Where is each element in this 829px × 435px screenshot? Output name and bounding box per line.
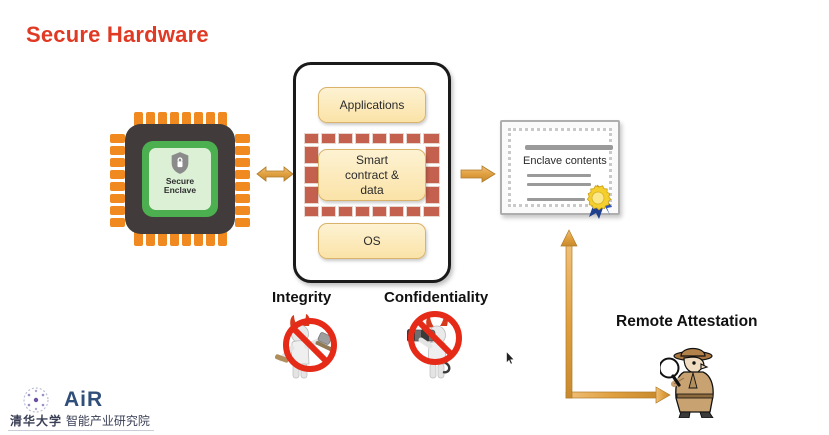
slide-canvas: Secure Hardware <box>0 0 829 435</box>
stack-box-smart-contract[interactable]: Smart contract & data <box>318 149 426 201</box>
enclave-certificate: Enclave contents <box>500 120 620 215</box>
certificate-line <box>527 198 585 201</box>
chip-pin-right <box>235 170 250 179</box>
logo-institute-name: 智能产业研究院 <box>66 414 150 428</box>
certificate-title: Enclave contents <box>523 155 623 167</box>
logo-mark-icon <box>14 387 62 413</box>
chip-pin-left <box>110 218 125 227</box>
cpu-chip: Secure Enclave <box>100 112 260 247</box>
brick <box>304 166 319 184</box>
gold-seal-icon <box>581 183 615 219</box>
brick <box>425 166 440 184</box>
chip-pin-right <box>235 218 250 227</box>
chip-pin-right <box>235 194 250 203</box>
chip-pin-left <box>110 134 125 143</box>
chip-pin-right <box>235 146 250 155</box>
brick <box>372 133 387 144</box>
brick <box>304 146 319 164</box>
air-logo: AiR 清华大学 智能产业研究院 <box>6 386 156 432</box>
certificate-line <box>527 174 591 177</box>
chip-pin-left <box>110 194 125 203</box>
devil-binoculars-prohibited-icon <box>403 310 473 382</box>
chip-pin-right <box>235 134 250 143</box>
right-arrow-icon <box>460 162 496 186</box>
logo-brand-text: AiR <box>64 388 103 412</box>
brick <box>304 206 319 217</box>
certificate-header-bar <box>525 145 613 150</box>
devil-hammer-prohibited-icon <box>275 312 345 384</box>
chip-pin-left <box>110 206 125 215</box>
chip-pin-left <box>110 146 125 155</box>
certificate-inner-border: Enclave contents <box>508 128 612 207</box>
stack-box-os[interactable]: OS <box>318 223 426 259</box>
shield-lock-icon <box>170 151 190 175</box>
brick <box>389 133 404 144</box>
software-stack-panel: Applications <box>293 62 451 283</box>
brick <box>425 186 440 204</box>
chip-pin-right <box>235 182 250 191</box>
brick <box>355 133 370 144</box>
page-title: Secure Hardware <box>26 22 209 48</box>
stack-box-applications[interactable]: Applications <box>318 87 426 123</box>
brick <box>338 206 353 217</box>
logo-divider <box>8 430 154 431</box>
brick <box>406 206 421 217</box>
label-integrity: Integrity <box>272 289 331 306</box>
brick <box>304 186 319 204</box>
brick <box>372 206 387 217</box>
brick <box>321 206 336 217</box>
brick <box>321 133 336 144</box>
brick <box>425 146 440 164</box>
logo-institute-text: 清华大学 智能产业研究院 <box>10 412 150 429</box>
chip-pin-right <box>235 206 250 215</box>
mouse-pointer-icon <box>506 351 515 365</box>
double-arrow-icon <box>256 162 294 186</box>
brick <box>406 133 421 144</box>
chip-pin-left <box>110 182 125 191</box>
stack-box-smart-contract-label: Smart contract & data <box>345 153 399 198</box>
detective-magnifier-icon <box>660 340 728 418</box>
chip-pin-left <box>110 158 125 167</box>
brick <box>423 133 440 144</box>
secure-enclave-label-2: Enclave <box>164 185 196 195</box>
label-confidentiality: Confidentiality <box>384 289 488 306</box>
logo-university-name: 清华大学 <box>10 414 62 428</box>
brick <box>338 133 353 144</box>
chip-pin-left <box>110 170 125 179</box>
brick <box>355 206 370 217</box>
chip-pin-right <box>235 158 250 167</box>
brick <box>423 206 440 217</box>
elbow-arrow-icon <box>556 228 672 406</box>
secure-enclave-core: Secure Enclave <box>149 148 211 210</box>
brick <box>304 133 319 144</box>
brick <box>389 206 404 217</box>
